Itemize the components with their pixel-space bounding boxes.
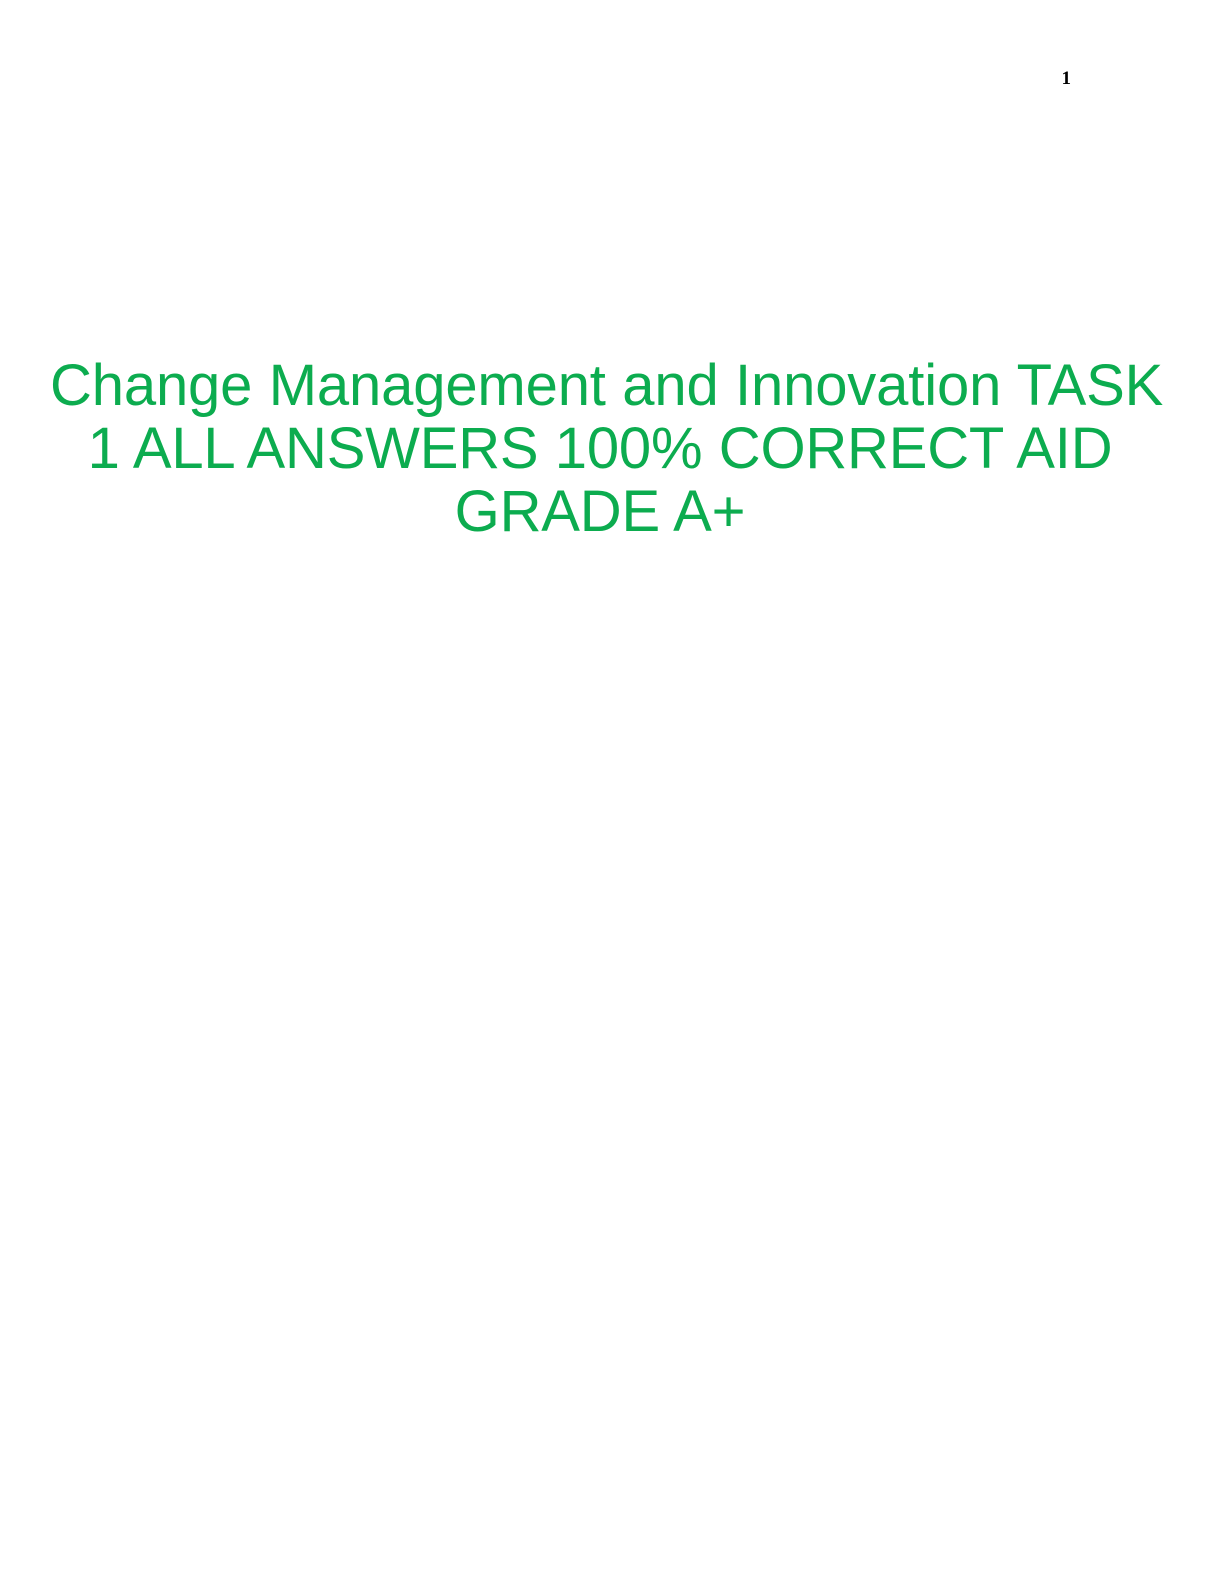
document-page: 1 Change Management and Innovation TASK … (0, 0, 1224, 1584)
page-title-line-1: Change Management and Innovation TASK (50, 354, 1150, 417)
page-number: 1 (0, 68, 1071, 90)
title-block: Change Management and Innovation TASK 1 … (50, 354, 1150, 543)
page-title: Change Management and Innovation TASK 1 … (50, 354, 1150, 543)
page-title-line-3: GRADE A+ (50, 480, 1150, 543)
page-header: 1 (0, 0, 1224, 140)
page-body (96, 600, 1128, 1500)
page-title-line-2: 1 ALL ANSWERS 100% CORRECT AID (50, 417, 1150, 480)
page-footer (0, 1494, 1224, 1584)
